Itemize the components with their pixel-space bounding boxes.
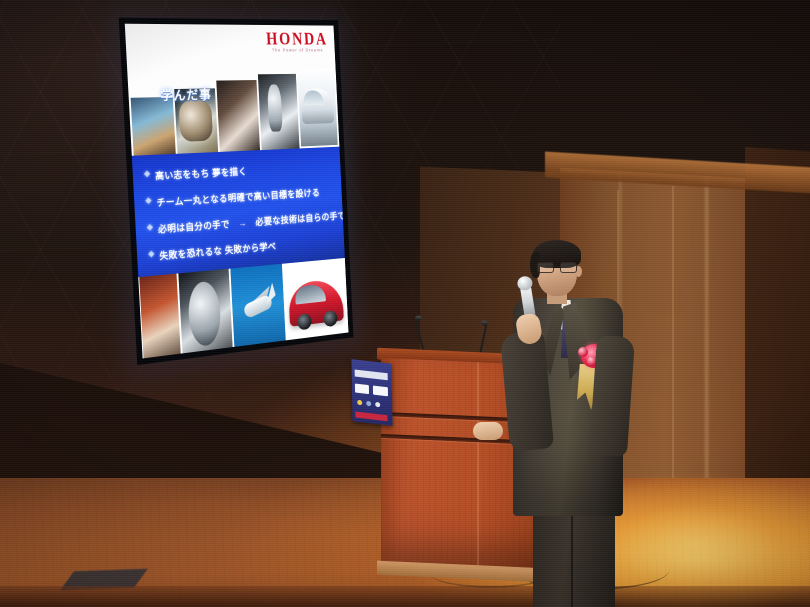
presenter-hand-on-podium: [473, 422, 503, 440]
presentation-slide: HONDA The Power of Dreams 学んだ事 ◆: [125, 24, 349, 359]
photo-engine-turbine: [178, 269, 234, 359]
corsage-petal-icon: [578, 347, 588, 357]
white-car-shape-icon: [300, 88, 334, 125]
microphone-head-right: [481, 320, 488, 325]
red-car-wheel-rear-icon: [323, 310, 337, 327]
slide-header: HONDA The Power of Dreams 学んだ事: [125, 24, 340, 156]
bullet-text: チーム一丸となる明確で高い目標を設ける: [156, 185, 320, 209]
slide-bullet-4: ◆ 失敗を恐れるな 失敗から学べ: [148, 234, 336, 263]
presenter: [497, 240, 647, 570]
bullet-marker-icon: ◆: [148, 249, 155, 260]
sign-banner-line-1: [355, 369, 388, 380]
bullet-text: 必明は自分の手で → 必要な技術は自らの手で: [158, 209, 346, 236]
photo-hondajet-aircraft: [231, 264, 286, 356]
red-car-body-icon: [288, 278, 345, 326]
sign-logo-dot-1: [357, 400, 362, 406]
thumb-person-testing-image: [217, 80, 260, 152]
sign-chip-left: [355, 383, 369, 394]
robot-shape-icon: [267, 85, 283, 132]
presenter-leg-divide: [571, 516, 573, 607]
photo-red-car: 29: [283, 258, 348, 349]
thumb-white-car-image: [297, 68, 338, 147]
wall-seam-2: [672, 186, 674, 491]
stage-front-edge: [0, 586, 810, 607]
thumb-robot-asimo-image: [258, 74, 300, 150]
engine-shape-icon: [178, 100, 213, 142]
bullet-marker-icon: ◆: [145, 196, 152, 207]
presenter-arm-right: [589, 335, 635, 457]
presentation-photo: HONDA The Power of Dreams 学んだ事 ◆: [0, 0, 810, 607]
bullet-text: 失敗を恐れるな 失敗から学べ: [159, 239, 277, 262]
slide-bullet-2: ◆ チーム一丸となる明確で高い目標を設ける: [145, 185, 334, 210]
bullet-marker-icon: ◆: [147, 222, 154, 233]
microphone-head-left: [415, 315, 422, 320]
slide-title: 学んだ事: [160, 85, 212, 105]
sign-logo-dot-3: [375, 402, 380, 408]
presenter-legs: [533, 508, 615, 607]
honda-logo: HONDA The Power of Dreams: [266, 31, 329, 53]
red-car-wheel-front-icon: [297, 313, 312, 330]
red-car-window-icon: [294, 284, 326, 305]
slide-bullet-list: ◆ 高い志をもち 夢を描く ◆ チーム一丸となる明確で高い目標を設ける ◆ 必明…: [132, 147, 345, 278]
honda-tagline: The Power of Dreams: [267, 49, 329, 53]
honda-wordmark: HONDA: [266, 30, 328, 48]
sign-logo-dot-2: [366, 401, 371, 407]
sign-chip-right: [373, 386, 388, 397]
thumb-workshop-image: [131, 97, 176, 156]
wall-panel-far-right: [745, 147, 810, 523]
screen-frame: HONDA The Power of Dreams 学んだ事 ◆: [119, 18, 354, 365]
slide-bullet-3: ◆ 必明は自分の手で → 必要な技術は自らの手で: [147, 209, 335, 236]
glasses-lens-left-icon: [537, 262, 554, 273]
sign-red-band: [355, 412, 387, 422]
bullet-text: 高い志をもち 夢を描く: [155, 164, 247, 182]
glasses-lens-right-icon: [560, 262, 577, 273]
slide-bullet-1: ◆ 高い志をもち 夢を描く: [144, 160, 333, 183]
podium-sign: [351, 359, 392, 426]
presenter-glasses: [537, 262, 577, 271]
bullet-marker-icon: ◆: [144, 169, 151, 180]
projection-screen: HONDA The Power of Dreams 学んだ事 ◆: [119, 18, 354, 365]
podium-corner-edge: [477, 362, 479, 567]
slide-thumbnail-strip: [127, 68, 339, 156]
photo-workshop-interior: [139, 274, 181, 359]
